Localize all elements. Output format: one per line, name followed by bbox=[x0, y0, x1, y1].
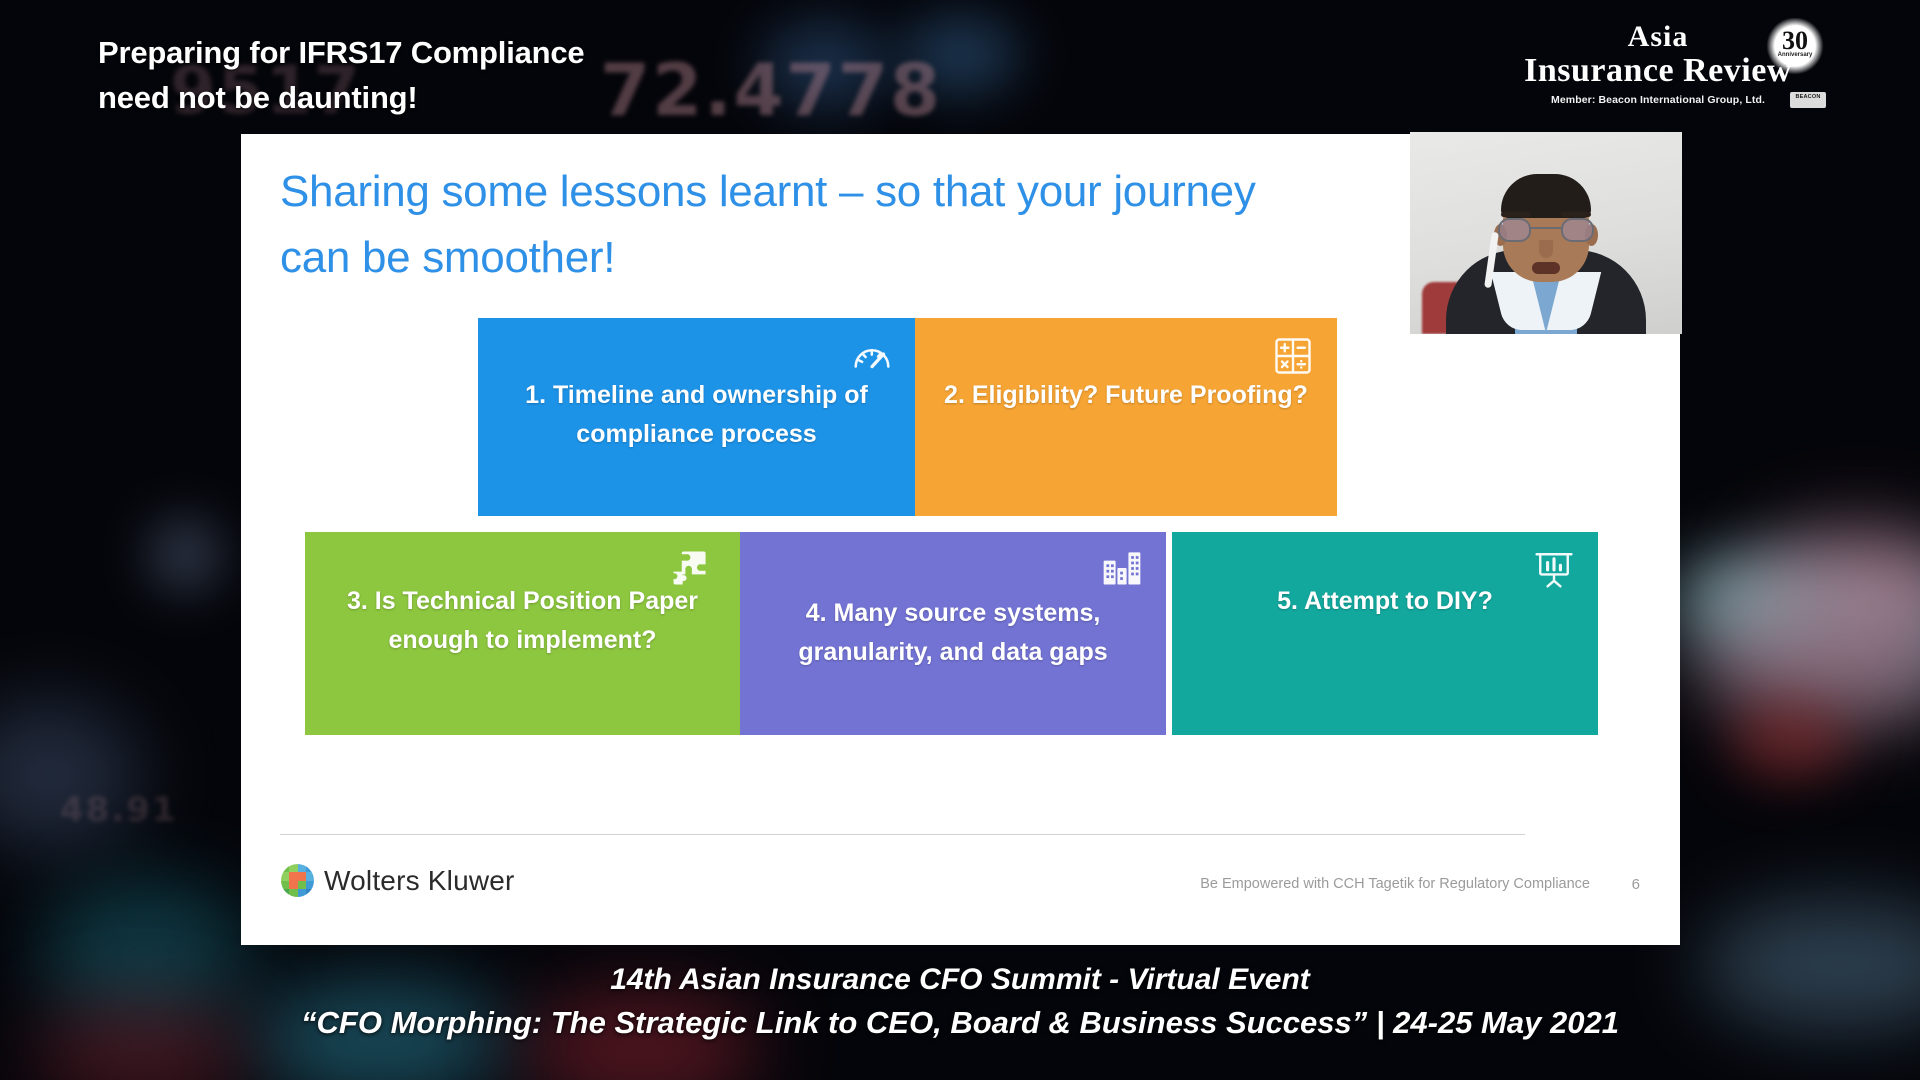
speaker-video-thumbnail[interactable] bbox=[1410, 132, 1682, 334]
logo-member-text: Member: Beacon International Group, Ltd. bbox=[1508, 94, 1808, 106]
wolters-kluwer-globe-icon bbox=[281, 864, 314, 897]
slide-title: Sharing some lessons learnt – so that yo… bbox=[280, 159, 1320, 291]
eyeglass-lens-left bbox=[1498, 218, 1531, 242]
anniversary-label: Anniversary bbox=[1764, 52, 1826, 58]
wolters-kluwer-wordmark: Wolters Kluwer bbox=[324, 865, 515, 897]
asia-insurance-review-logo: Asia Insurance Review Member: Beacon Int… bbox=[1508, 22, 1808, 106]
lesson-card-5[interactable]: 5. Attempt to DIY? bbox=[1172, 532, 1598, 735]
lesson-card-1[interactable]: 1. Timeline and ownership of compliance … bbox=[478, 318, 915, 516]
logo-line-insurance-review: Insurance Review bbox=[1508, 53, 1808, 89]
wolters-kluwer-logo: Wolters Kluwer bbox=[281, 864, 515, 897]
webinar-title: Preparing for IFRS17 Compliance need not… bbox=[98, 30, 584, 120]
eyeglass-lens-right bbox=[1561, 218, 1594, 242]
webcam-mouth bbox=[1532, 262, 1560, 274]
webinar-title-line2: need not be daunting! bbox=[98, 75, 584, 120]
buildings-city-icon bbox=[1100, 546, 1146, 592]
footer-divider bbox=[280, 834, 1525, 835]
anniversary-badge-icon: 30 Anniversary bbox=[1764, 18, 1826, 80]
webcam-eyebrow-left bbox=[1501, 212, 1531, 217]
calculator-operations-icon bbox=[1271, 334, 1317, 380]
webinar-title-line1: Preparing for IFRS17 Compliance bbox=[98, 30, 584, 75]
lesson-card-2[interactable]: 2. Eligibility? Future Proofing? bbox=[915, 318, 1337, 516]
footer-note: Be Empowered with CCH Tagetik for Regula… bbox=[1200, 876, 1590, 892]
lesson-card-2-label: 2. Eligibility? Future Proofing? bbox=[915, 376, 1337, 415]
page-header: Preparing for IFRS17 Compliance need not… bbox=[0, 0, 1920, 134]
lesson-card-4-label: 4. Many source systems, granularity, and… bbox=[740, 594, 1166, 672]
webcam-eyeglasses-icon bbox=[1498, 218, 1594, 242]
event-banner: 14th Asian Insurance CFO Summit - Virtua… bbox=[0, 955, 1920, 1080]
lesson-card-3[interactable]: 3. Is Technical Position Paper enough to… bbox=[305, 532, 740, 735]
event-banner-line1: 14th Asian Insurance CFO Summit - Virtua… bbox=[0, 963, 1920, 997]
speedometer-gauge-icon bbox=[849, 334, 895, 380]
lesson-card-1-label: 1. Timeline and ownership of compliance … bbox=[478, 376, 915, 454]
lesson-card-5-label: 5. Attempt to DIY? bbox=[1172, 582, 1598, 621]
logo-line-asia: Asia bbox=[1508, 22, 1808, 52]
lesson-card-3-label: 3. Is Technical Position Paper enough to… bbox=[305, 582, 740, 660]
lesson-card-4[interactable]: 4. Many source systems, granularity, and… bbox=[740, 532, 1166, 735]
event-banner-line2: “CFO Morphing: The Strategic Link to CEO… bbox=[0, 1005, 1920, 1041]
webcam-nose bbox=[1539, 240, 1553, 258]
webcam-eyebrow-right bbox=[1561, 212, 1591, 217]
slide-page-number: 6 bbox=[1632, 876, 1640, 893]
beacon-mark-icon: BEACON bbox=[1790, 92, 1826, 108]
eyeglass-bridge bbox=[1531, 227, 1561, 229]
